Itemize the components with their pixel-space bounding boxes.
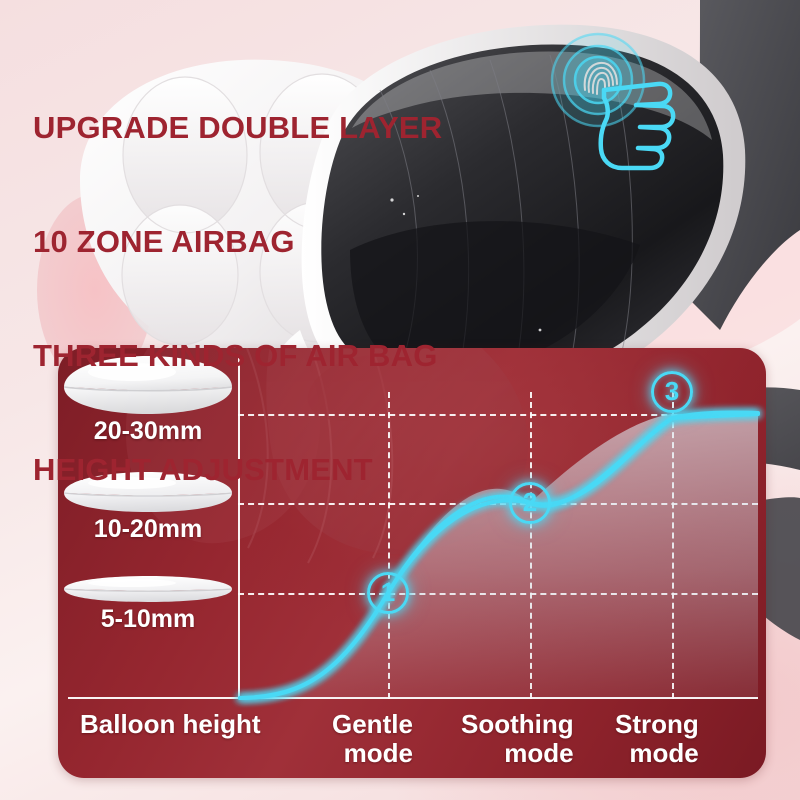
x-label-gentle-line2: mode: [332, 739, 413, 768]
x-label-strong-line2: mode: [615, 739, 699, 768]
axis-title-balloon-height: Balloon height: [80, 710, 261, 739]
hand-tap-icon: [540, 28, 730, 188]
x-label-soothing-line1: Soothing: [461, 709, 574, 739]
x-label-soothing-line2: mode: [461, 739, 574, 768]
x-label-strong-line1: Strong: [615, 709, 699, 739]
headline: UPGRADE DOUBLE LAYER 10 ZONE AIRBAG THRE…: [33, 33, 442, 565]
x-label-gentle-line1: Gentle: [332, 709, 413, 739]
x-axis-labels: Balloon height Gentle mode Soothing mode…: [58, 704, 766, 778]
poster-canvas: UPGRADE DOUBLE LAYER 10 ZONE AIRBAG THRE…: [0, 0, 800, 800]
x-label-strong-mode: Strong mode: [615, 710, 699, 768]
headline-line-4: HEIGHT ADJUSTMENT: [33, 451, 442, 489]
marker-1: 1: [367, 572, 409, 614]
headline-line-1: UPGRADE DOUBLE LAYER: [33, 109, 442, 147]
x-label-soothing-mode: Soothing mode: [461, 710, 574, 768]
marker-2: 2: [509, 482, 551, 524]
x-label-gentle-mode: Gentle mode: [332, 710, 413, 768]
headline-line-2: 10 ZONE AIRBAG: [33, 223, 442, 261]
headline-line-3: THREE KINDS OF AIR BAG: [33, 337, 442, 375]
marker-3: 3: [651, 371, 693, 413]
